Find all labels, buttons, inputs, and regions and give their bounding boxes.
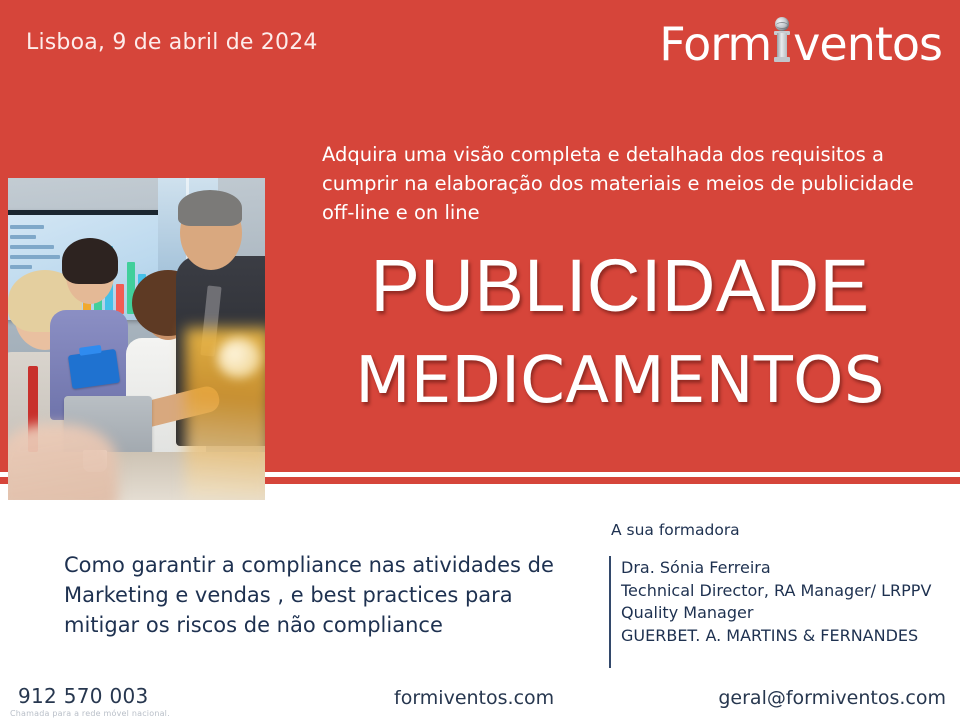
trainer-vertical-rule — [609, 556, 611, 668]
footer-phone-note: Chamada para a rede móvel nacional. — [10, 709, 170, 718]
trainer-section-label: A sua formadora — [611, 521, 740, 539]
footer-email-link[interactable]: geral@formiventos.com — [718, 687, 946, 709]
trainer-role-2: Quality Manager — [621, 602, 951, 625]
logo-text-part-b: ventos — [793, 17, 942, 71]
page-title-line-2: MEDICAMENTOS — [300, 348, 940, 414]
trainer-role-1: Technical Director, RA Manager/ LRPPV — [621, 580, 951, 603]
footer-website-link[interactable]: formiventos.com — [394, 687, 554, 709]
page-title: PUBLICIDADE MEDICAMENTOS — [300, 248, 940, 414]
trainer-company: GUERBET. A. MARTINS & FERNANDES — [621, 625, 951, 648]
footer-phone-number[interactable]: 912 570 003 — [18, 684, 149, 708]
event-date: Lisboa, 9 de abril de 2024 — [26, 30, 318, 55]
course-description: Como garantir a compliance nas atividade… — [64, 550, 564, 640]
formiventos-logo[interactable]: Form ventos — [659, 16, 942, 72]
logo-pillar-globe-icon — [774, 21, 790, 67]
trainer-details: Dra. Sónia Ferreira Technical Director, … — [621, 557, 951, 647]
business-meeting-photo — [8, 178, 265, 500]
logo-text-part-a: Form — [659, 17, 771, 71]
hero-kicker-text: Adquira uma visão completa e detalhada d… — [322, 140, 936, 227]
trainer-name: Dra. Sónia Ferreira — [621, 557, 951, 580]
page-title-line-1: PUBLICIDADE — [300, 248, 940, 324]
